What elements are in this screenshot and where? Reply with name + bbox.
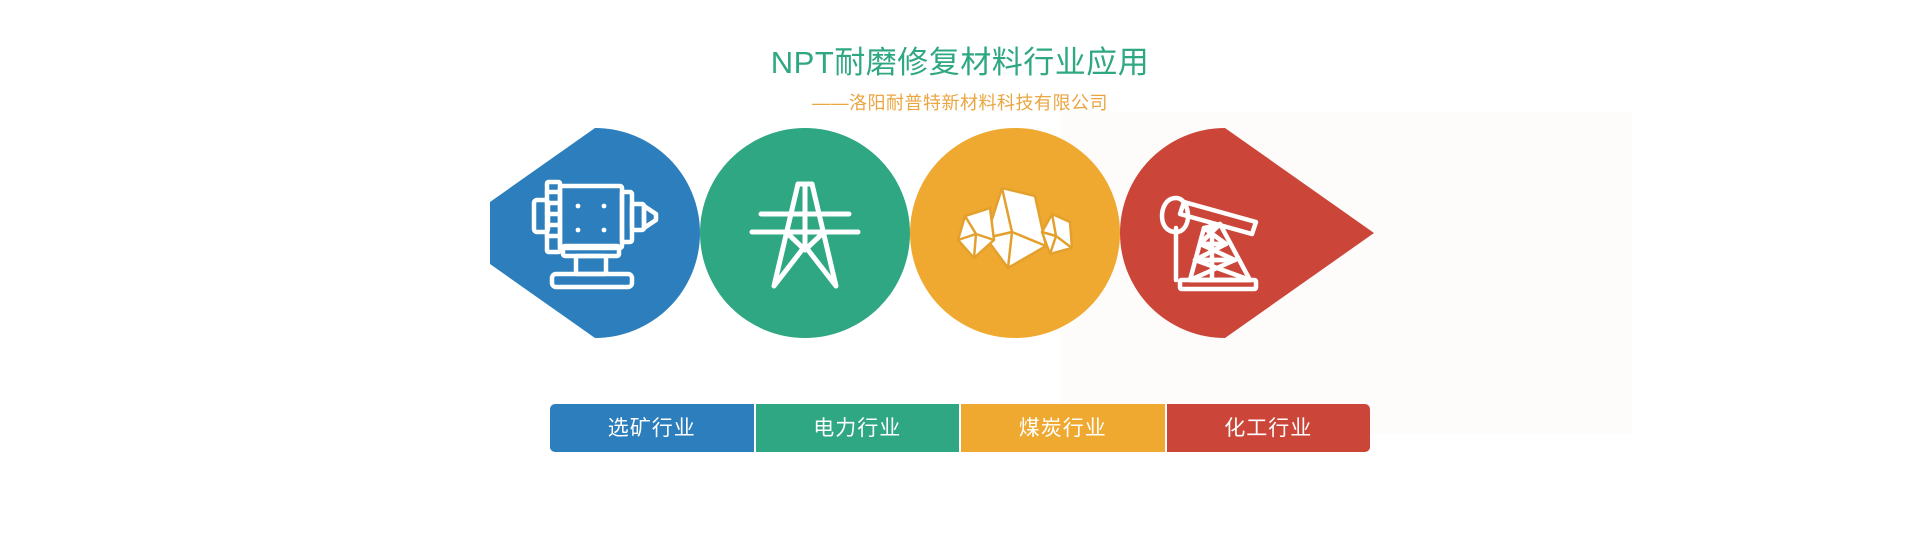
industry-label-bar: 选矿行业 电力行业 煤炭行业 化工行业	[550, 404, 1370, 452]
industry-shape-row	[0, 128, 1920, 338]
label-mineral-processing[interactable]: 选矿行业	[550, 404, 756, 452]
page-subtitle: ——洛阳耐普特新材料科技有限公司	[0, 93, 1920, 115]
label-electric-power[interactable]: 电力行业	[756, 404, 962, 452]
page-title: NPT耐磨修复材料行业应用	[0, 44, 1920, 81]
title-block: NPT耐磨修复材料行业应用 ——洛阳耐普特新材料科技有限公司	[0, 44, 1920, 115]
slide-canvas: NPT耐磨修复材料行业应用 ——洛阳耐普特新材料科技有限公司	[0, 0, 1920, 540]
industry-shapes-svg	[490, 128, 1430, 338]
industry-shape-mineral-processing[interactable]	[490, 128, 700, 338]
label-chemical[interactable]: 化工行业	[1167, 404, 1371, 452]
label-coal[interactable]: 煤炭行业	[961, 404, 1167, 452]
